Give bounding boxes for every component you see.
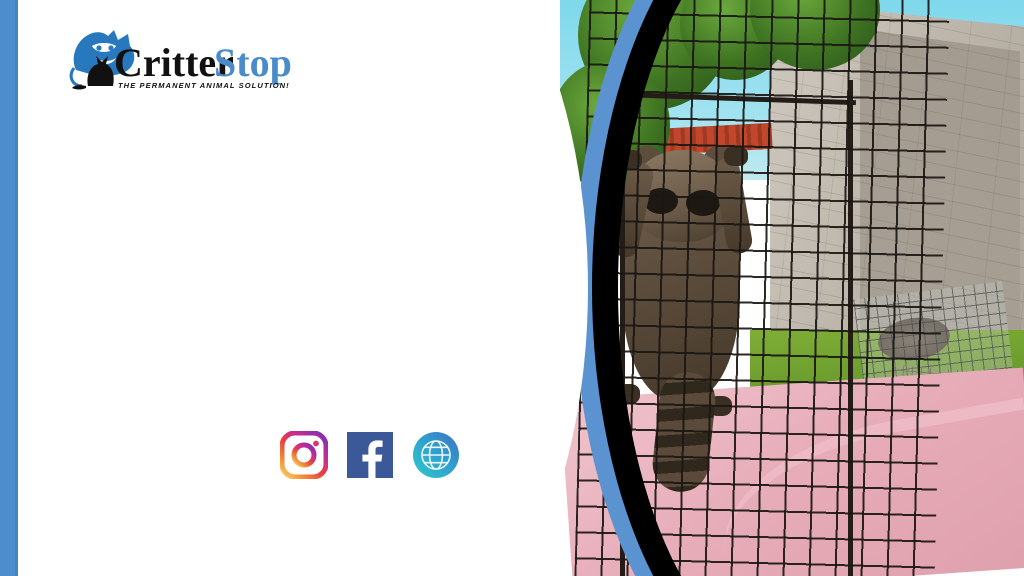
logo-tagline: THE PERMANENT ANIMAL SOLUTION! xyxy=(118,81,290,90)
hero-photo-pane xyxy=(560,0,1024,576)
hero-banner: Critter Stop THE PERMANENT ANIMAL SOLUTI… xyxy=(0,0,1024,576)
instagram-icon[interactable] xyxy=(280,431,328,479)
left-edge-accent-line xyxy=(15,0,18,576)
social-links xyxy=(280,431,460,479)
divider-arc-black xyxy=(592,0,1012,576)
facebook-icon[interactable] xyxy=(346,431,394,479)
website-globe-icon[interactable] xyxy=(412,431,460,479)
critterstop-logo[interactable]: Critter Stop THE PERMANENT ANIMAL SOLUTI… xyxy=(66,24,296,92)
logo-wordmark-stop: Stop xyxy=(214,40,292,85)
